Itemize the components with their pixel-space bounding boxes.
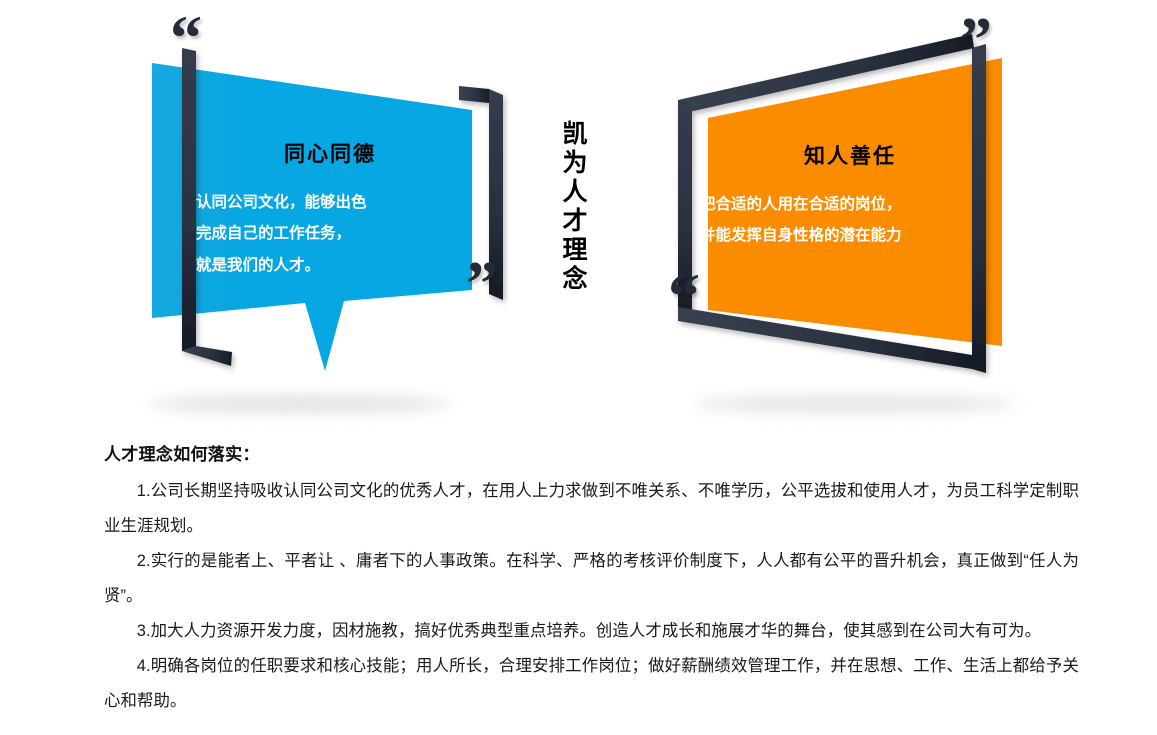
talent-philosophy-infographic: “ ” ” “ 同心同德 认同公司文化，能够出色 完成自己的工作任务， 就是我们… (0, 0, 1157, 430)
center-caption-char: 凯 (558, 120, 592, 149)
orange-panel-body-line: 并能发挥自身性格的潜在能力 (700, 225, 1000, 247)
blue-panel-ground-shadow (150, 395, 450, 413)
center-vertical-caption: 凯 为 人 才 理 念 (558, 120, 592, 294)
orange-panel-body-line: 把合适的人用在合适的岗位， (700, 194, 1000, 216)
orange-open-quote-icon: “ (668, 264, 700, 328)
blue-panel-body: 认同公司文化，能够出色 完成自己的工作任务， 就是我们的人才。 (196, 192, 456, 286)
prose-paragraph: 4.明确各岗位的任职要求和核心技能；用人所长，合理安排工作岗位；做好薪酬绩效管理… (104, 649, 1079, 719)
center-caption-char: 理 (558, 236, 592, 265)
blue-panel-title: 同心同德 (205, 138, 455, 168)
center-caption-char: 人 (558, 178, 592, 207)
center-caption-char: 念 (558, 265, 592, 294)
prose-heading: 人才理念如何落实： (104, 440, 1079, 465)
prose-paragraph: 1.公司长期坚持吸收认同公司文化的优秀人才，在用人上力求做到不唯关系、不唯学历，… (104, 474, 1079, 544)
orange-panel-body: 把合适的人用在合适的岗位， 并能发挥自身性格的潜在能力 (700, 194, 1000, 257)
prose-section: 人才理念如何落实： 1.公司长期坚持吸收认同公司文化的优秀人才，在用人上力求做到… (0, 432, 1157, 719)
blue-panel-body-line: 认同公司文化，能够出色 (196, 192, 456, 214)
blue-close-quote-icon: ” (466, 252, 498, 316)
orange-panel-title: 知人善任 (725, 140, 975, 170)
prose-paragraph: 2.实行的是能者上、平者让 、庸者下的人事政策。在科学、严格的考核评价制度下，人… (104, 544, 1079, 614)
center-caption-char: 为 (558, 149, 592, 178)
blue-panel-body-line: 完成自己的工作任务， (196, 223, 456, 245)
blue-left-bracket-foot (182, 346, 232, 366)
center-caption-char: 才 (558, 207, 592, 236)
orange-panel-ground-shadow (695, 395, 1015, 413)
blue-right-bracket-top-arm (459, 86, 489, 103)
blue-panel-body-line: 就是我们的人才。 (196, 255, 456, 277)
prose-paragraph: 3.加大人力资源开发力度，因材施教，搞好优秀典型重点培养。创造人才成长和施展才华… (104, 614, 1079, 649)
blue-left-bracket-vertical (182, 48, 196, 351)
blue-open-quote-icon: “ (170, 6, 202, 70)
orange-close-quote-icon: ” (960, 8, 992, 72)
ground-shadow-group (150, 395, 1015, 413)
